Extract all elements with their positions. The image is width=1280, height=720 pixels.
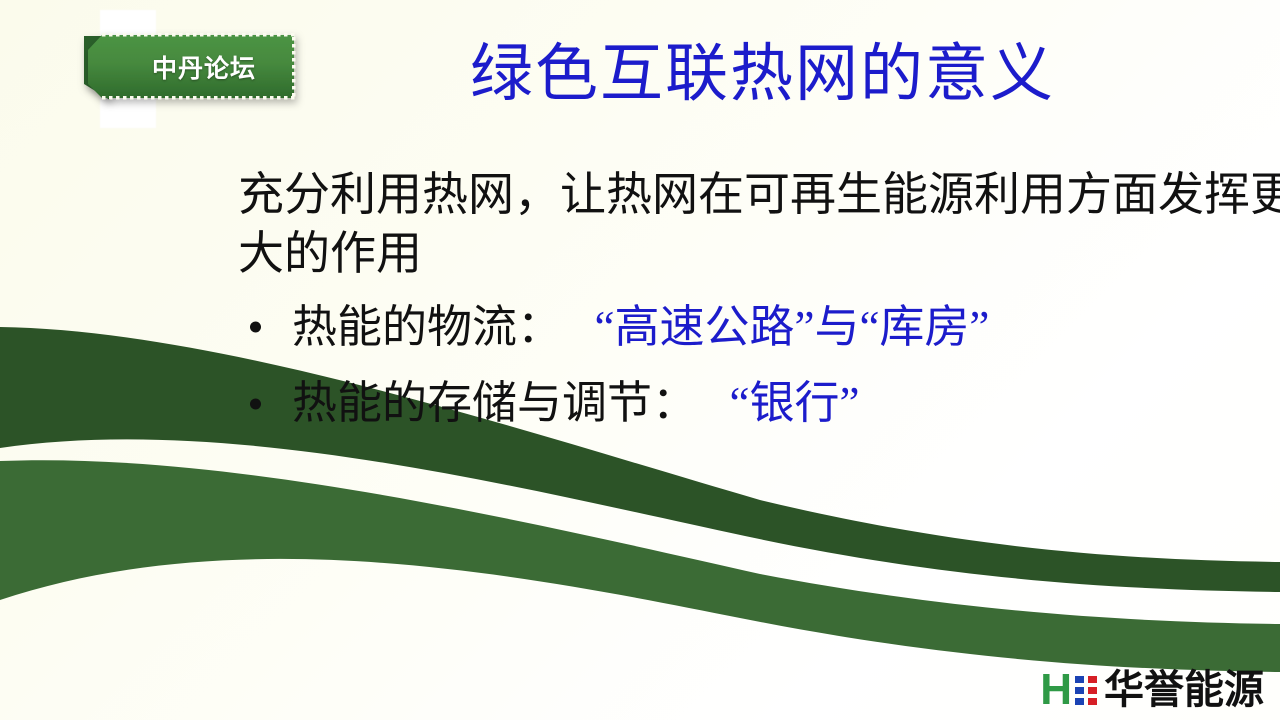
logo-company-name: 华誉能源 bbox=[1104, 670, 1264, 710]
bullet-list: 热能的物流： “高速公路”与“库房” 热能的存储与调节： “银行” bbox=[238, 298, 1280, 433]
band-light-green bbox=[0, 460, 1280, 672]
logo-square-red bbox=[1088, 687, 1097, 694]
badge-label: 中丹论坛 bbox=[124, 57, 284, 82]
bullet-accent-text: “银行” bbox=[730, 378, 860, 428]
forum-badge: 中丹论坛 bbox=[62, 10, 312, 130]
logo-square-blue bbox=[1075, 698, 1084, 705]
bullet-lead-text: 热能的物流： bbox=[292, 302, 562, 352]
slide-title: 绿色互联热网的意义 bbox=[470, 38, 1055, 110]
logo-dot-grid-icon bbox=[1075, 676, 1097, 705]
bullet-dot-icon bbox=[250, 322, 261, 333]
bullet-dot-icon bbox=[250, 398, 261, 409]
bullet-accent-text: “高速公路”与“库房” bbox=[595, 302, 990, 352]
body-paragraph: 充分利用热网，让热网在可再生能源利用方面发挥更大的作用 bbox=[238, 166, 1280, 284]
list-item: 热能的物流： “高速公路”与“库房” bbox=[238, 298, 1280, 357]
logo-h-mark: H bbox=[1040, 668, 1071, 712]
logo-square-blue bbox=[1075, 687, 1084, 694]
presentation-slide: 中丹论坛 绿色互联热网的意义 充分利用热网，让热网在可再生能源利用方面发挥更大的… bbox=[0, 0, 1280, 720]
company-logo: H 华誉能源 bbox=[1040, 666, 1264, 714]
logo-square-blue bbox=[1075, 676, 1084, 683]
logo-square-red bbox=[1088, 698, 1097, 705]
list-item: 热能的存储与调节： “银行” bbox=[238, 374, 1280, 433]
bullet-lead-text: 热能的存储与调节： bbox=[292, 378, 697, 428]
logo-square-red bbox=[1088, 676, 1097, 683]
slide-body: 充分利用热网，让热网在可再生能源利用方面发挥更大的作用 热能的物流： “高速公路… bbox=[238, 166, 1280, 451]
